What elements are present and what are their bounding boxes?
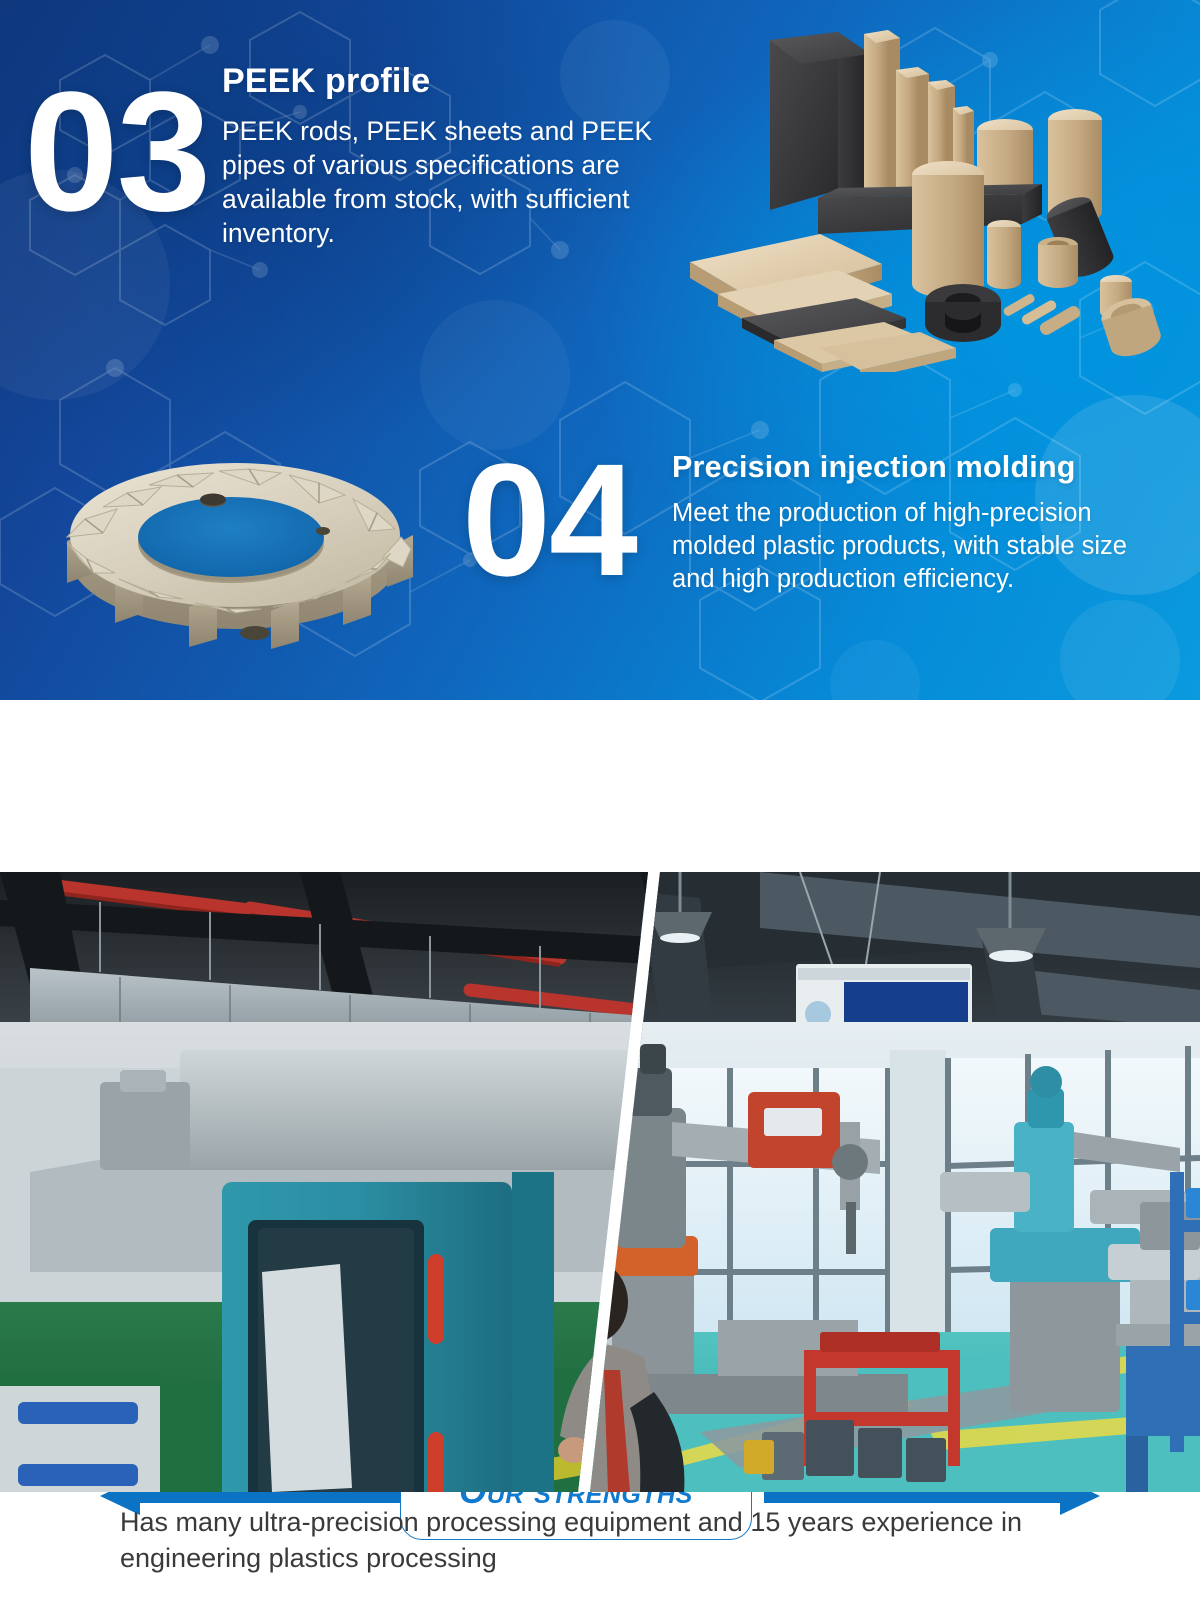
hero-item-04-body: Meet the production of high-precision mo… xyxy=(672,497,1172,596)
peek-profiles-product-photo xyxy=(670,12,1190,372)
hero-item-03: 03 PEEK profile PEEK rods, PEEK sheets a… xyxy=(0,62,660,362)
hero-item-03-body: PEEK rods, PEEK sheets and PEEK pipes of… xyxy=(222,115,662,251)
bottom-caption: Has many ultra-precision processing equi… xyxy=(120,1504,1100,1577)
hero-item-04-title: Precision injection molding xyxy=(672,450,1172,485)
hero-panel: 03 PEEK profile PEEK rods, PEEK sheets a… xyxy=(0,0,1200,700)
hero-item-04-number: 04 xyxy=(462,444,636,596)
hero-item-03-title: PEEK profile xyxy=(222,62,662,101)
hero-item-03-number: 03 xyxy=(24,72,209,234)
strengths-divider-section: Our strengths xyxy=(0,700,1200,870)
hero-item-04: 04 Precision injection molding Meet the … xyxy=(0,440,1200,670)
workshop-photo-pair xyxy=(0,872,1200,1492)
page-root: 03 PEEK profile PEEK rods, PEEK sheets a… xyxy=(0,0,1200,1616)
